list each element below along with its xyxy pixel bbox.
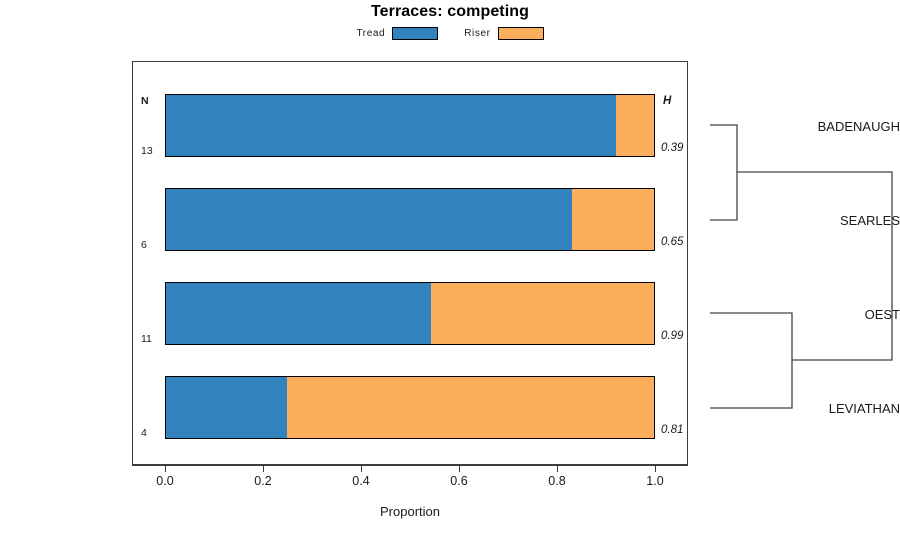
x-tick <box>361 465 362 472</box>
chart-legend: Tread Riser <box>0 27 900 40</box>
legend-item-tread: Tread <box>356 27 438 40</box>
page-title: Terraces: competing <box>0 3 900 21</box>
x-tick-label: 0.0 <box>156 474 173 488</box>
n-value-2: 11 <box>141 333 152 345</box>
n-value-3: 4 <box>141 427 147 439</box>
bar-segment-tread <box>166 377 289 438</box>
x-axis-line <box>132 465 688 466</box>
stacked-bar-leviathan[interactable] <box>165 376 655 439</box>
x-tick-label: 0.8 <box>548 474 565 488</box>
n-value-1: 6 <box>141 239 147 251</box>
bar-segment-riser <box>616 95 654 156</box>
x-tick-label: 0.4 <box>352 474 369 488</box>
dendro-cluster-oest-leviathan <box>710 313 792 408</box>
dendrogram-svg <box>690 61 900 465</box>
x-tick <box>263 465 264 472</box>
bar-segment-riser <box>431 283 654 344</box>
x-tick <box>165 465 166 472</box>
chart-root: Terraces: competing Tread Riser BADENAUG… <box>0 0 900 540</box>
x-axis-title: Proportion <box>132 504 688 519</box>
legend-swatch-tread <box>392 27 438 40</box>
stacked-bar-searles[interactable] <box>165 188 655 251</box>
bar-segment-tread <box>166 283 433 344</box>
dendrogram <box>690 61 900 465</box>
bar-segment-riser <box>287 377 655 438</box>
legend-swatch-riser <box>498 27 544 40</box>
n-value-0: 13 <box>141 145 153 157</box>
dendro-root-join <box>737 172 892 360</box>
h-value-3: 0.81 <box>661 424 683 436</box>
legend-label-riser: Riser <box>464 28 490 39</box>
bar-segment-riser <box>572 189 654 250</box>
legend-label-tread: Tread <box>356 28 385 39</box>
x-tick <box>655 465 656 472</box>
bar-segment-tread <box>166 95 618 156</box>
x-tick-label: 0.6 <box>450 474 467 488</box>
legend-item-riser: Riser <box>464 27 543 40</box>
x-tick-label: 1.0 <box>646 474 663 488</box>
n-column-header: N <box>141 95 149 107</box>
x-tick-label: 0.2 <box>254 474 271 488</box>
stacked-bar-oest[interactable] <box>165 282 655 345</box>
x-tick <box>557 465 558 472</box>
h-column-header: H <box>663 95 671 107</box>
dendro-cluster-badenaugh-searles <box>710 125 737 220</box>
h-value-0: 0.39 <box>661 142 683 154</box>
x-tick <box>459 465 460 472</box>
h-value-1: 0.65 <box>661 236 683 248</box>
h-value-2: 0.99 <box>661 330 683 342</box>
bar-segment-tread <box>166 189 574 250</box>
stacked-bar-badenaugh[interactable] <box>165 94 655 157</box>
